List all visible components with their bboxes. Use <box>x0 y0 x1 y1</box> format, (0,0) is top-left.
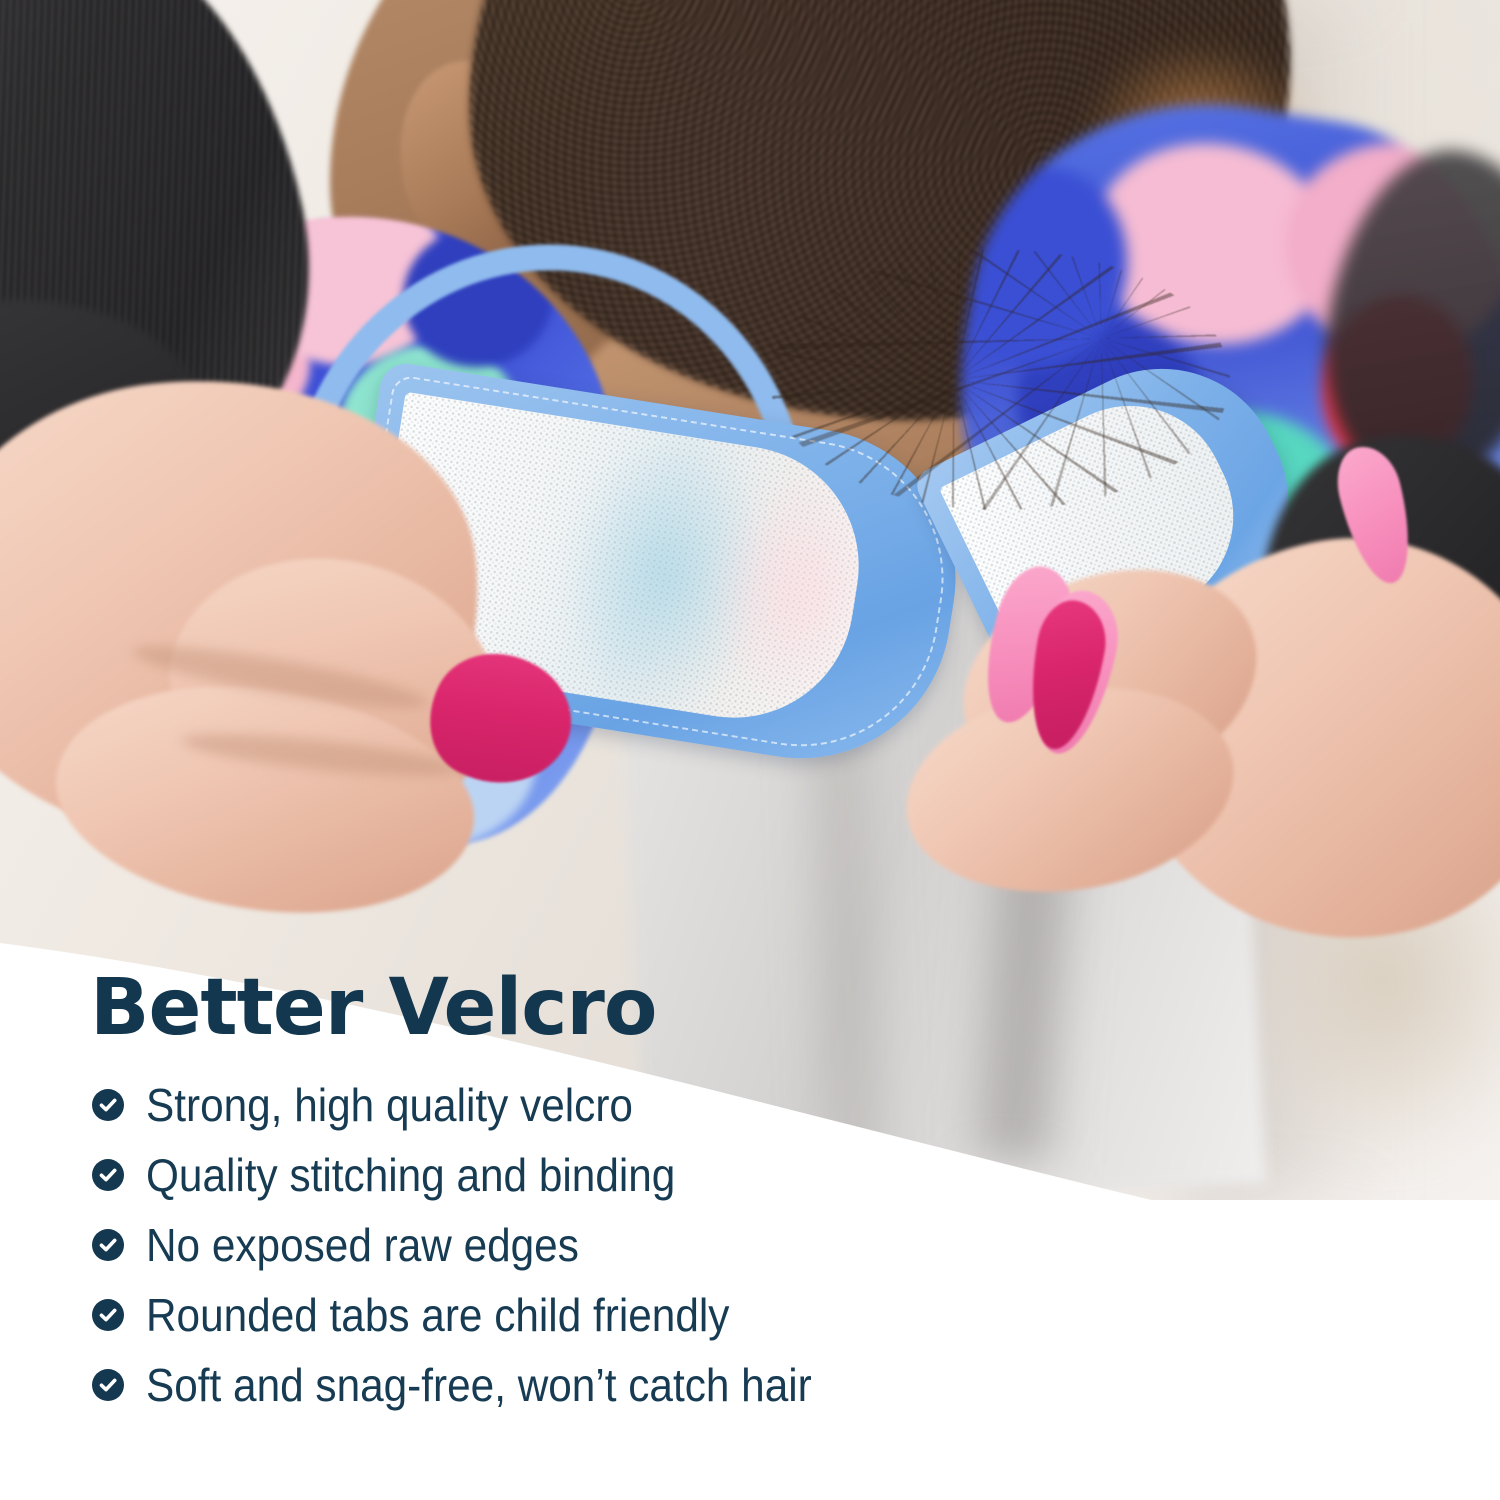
feature-list: Strong, high quality velcro Quality stit… <box>0 1070 1500 1420</box>
feature-label: Quality stitching and binding <box>146 1149 675 1201</box>
feature-label: Rounded tabs are child friendly <box>146 1289 729 1341</box>
list-item: No exposed raw edges <box>92 1210 1500 1280</box>
list-item: Soft and snag-free, won’t catch hair <box>92 1350 1500 1420</box>
list-item: Strong, high quality velcro <box>92 1070 1500 1140</box>
feature-text-block: Better Velcro Strong, high quality velcr… <box>0 960 1500 1420</box>
check-circle-icon <box>92 1229 124 1261</box>
product-feature-card: Better Velcro Strong, high quality velcr… <box>0 0 1500 1500</box>
check-circle-icon <box>92 1369 124 1401</box>
check-circle-icon <box>92 1159 124 1191</box>
feature-label: Strong, high quality velcro <box>146 1079 633 1131</box>
check-circle-icon <box>92 1089 124 1121</box>
check-circle-icon <box>92 1299 124 1331</box>
page-title: Better Velcro <box>0 960 1500 1056</box>
list-item: Quality stitching and binding <box>92 1140 1500 1210</box>
feature-label: Soft and snag-free, won’t catch hair <box>146 1359 812 1411</box>
flyaway-hair-strands <box>770 250 1230 510</box>
feature-label: No exposed raw edges <box>146 1219 579 1271</box>
list-item: Rounded tabs are child friendly <box>92 1280 1500 1350</box>
